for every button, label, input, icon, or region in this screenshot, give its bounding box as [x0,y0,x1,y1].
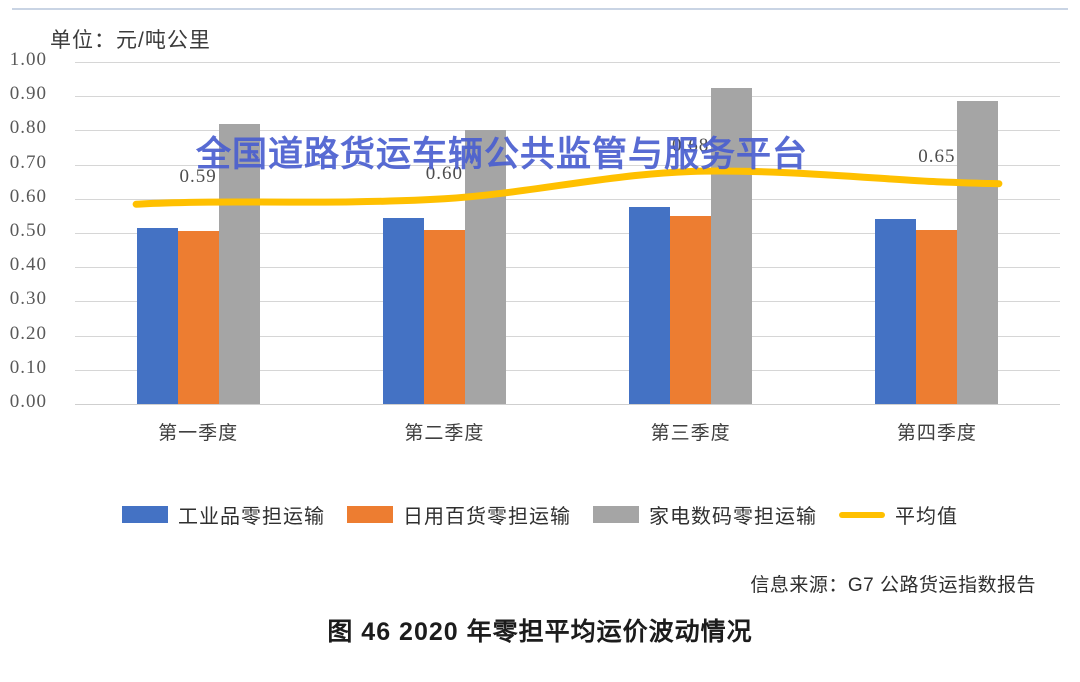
source-note: 信息来源：G7 公路货运指数报告 [750,570,1036,597]
data-label: 0.68 [672,135,709,157]
x-axis-tick-label: 第三季度 [651,418,731,445]
legend-line-icon [839,512,885,518]
data-label: 0.65 [918,146,955,168]
y-axis-tick-label: 0.20 [0,323,47,345]
y-axis-tick-label: 0.30 [0,288,47,310]
legend-swatch-icon [593,506,639,523]
legend-swatch-icon [347,506,393,523]
legend-label: 工业品零担运输 [178,500,325,529]
chart-legend: 工业品零担运输日用百货零担运输家电数码零担运输平均值 [0,500,1080,529]
average-line-path [136,171,999,204]
legend-item[interactable]: 日用百货零担运输 [347,500,571,529]
legend-item[interactable]: 工业品零担运输 [122,500,325,529]
y-axis-tick-label: 1.00 [0,49,47,71]
x-axis-tick-label: 第二季度 [404,418,484,445]
y-axis-tick-label: 0.70 [0,152,47,174]
legend-label: 日用百货零担运输 [403,500,571,529]
top-divider [12,8,1068,10]
legend-label: 家电数码零担运输 [649,500,817,529]
legend-item[interactable]: 平均值 [839,500,958,529]
y-axis-tick-label: 0.80 [0,117,47,139]
figure-caption: 图 46 2020 年零担平均运价波动情况 [0,612,1080,648]
y-axis-tick-label: 0.50 [0,220,47,242]
plot-area: 1.000.900.800.700.600.500.400.300.200.10… [75,62,1060,404]
y-axis-tick-label: 0.00 [0,391,47,413]
y-axis-tick-label: 0.40 [0,254,47,276]
y-axis-tick-label: 0.10 [0,357,47,379]
legend-swatch-icon [122,506,168,523]
unit-label: 单位：元/吨公里 [50,24,211,54]
data-label: 0.59 [180,166,217,188]
legend-label: 平均值 [895,500,958,529]
y-axis-tick-label: 0.60 [0,186,47,208]
data-label: 0.60 [426,163,463,185]
chart-figure: 单位：元/吨公里 1.000.900.800.700.600.500.400.3… [0,0,1080,682]
x-axis-tick-label: 第四季度 [897,418,977,445]
gridline [75,404,1060,405]
y-axis-tick-label: 0.90 [0,83,47,105]
average-line-series [75,62,1060,404]
legend-item[interactable]: 家电数码零担运输 [593,500,817,529]
x-axis-tick-label: 第一季度 [158,418,238,445]
